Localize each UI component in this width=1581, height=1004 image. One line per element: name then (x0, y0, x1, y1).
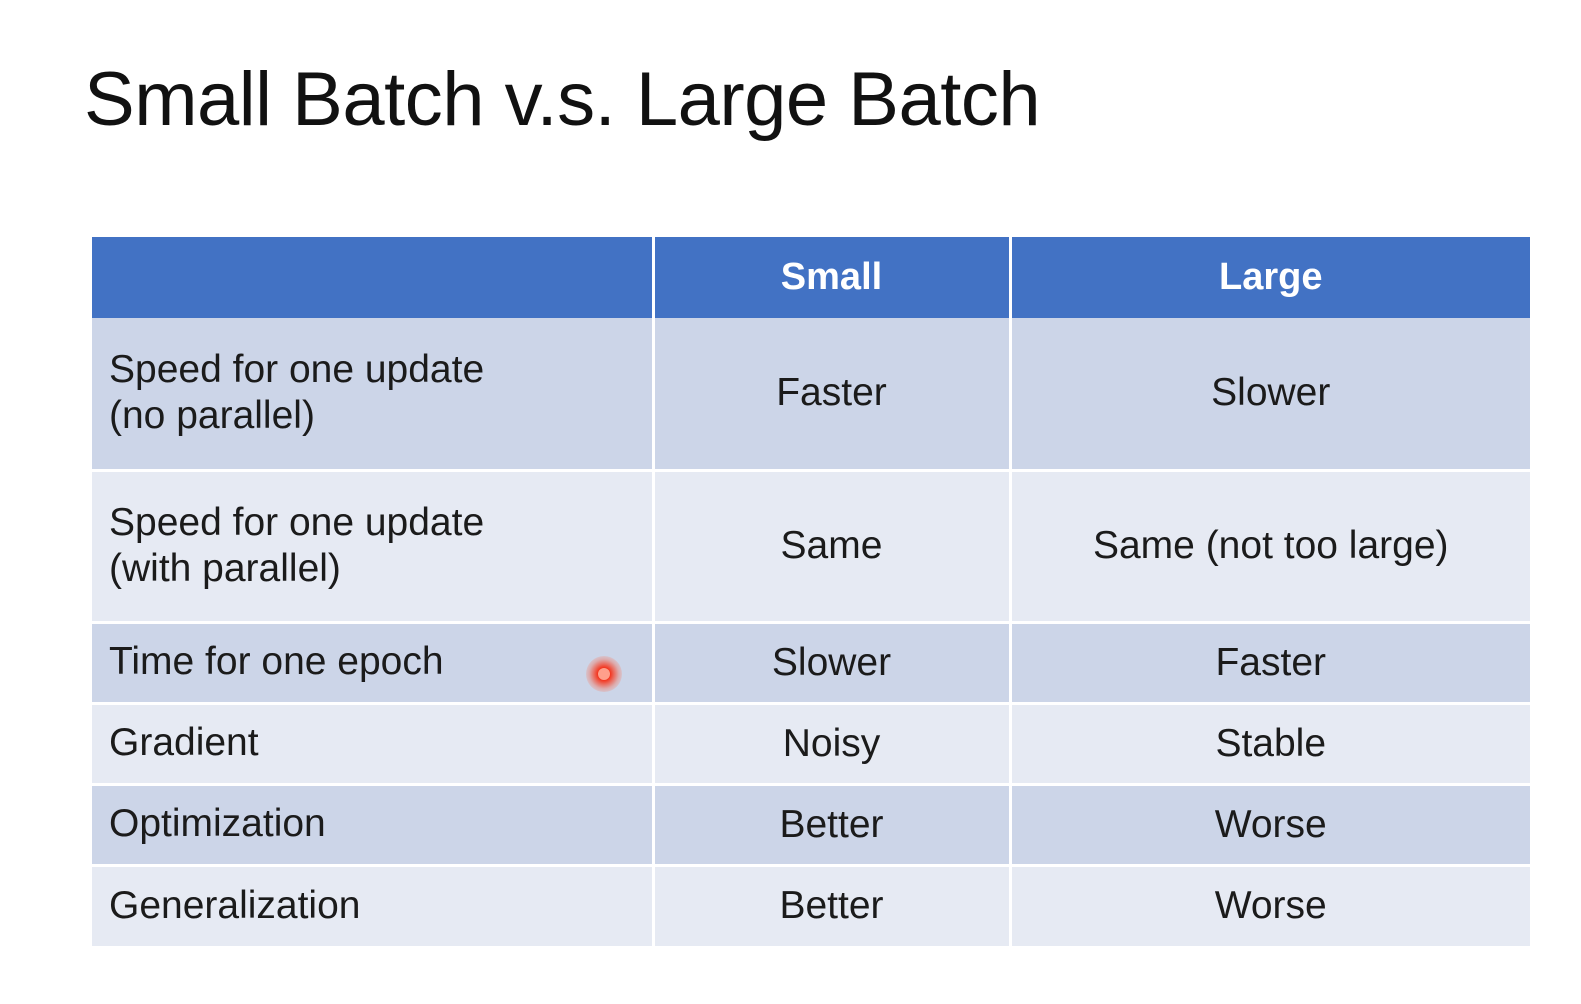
attribute-line-1: Speed for one update (109, 347, 652, 393)
cell-small-gradient: Noisy (653, 703, 1010, 784)
row-attribute-generalization: Generalization (92, 865, 653, 946)
column-header-large: Large (1010, 237, 1530, 318)
table-row: Optimization Better Worse (92, 784, 1530, 865)
comparison-table: Small Large Speed for one update (no par… (92, 237, 1530, 946)
row-attribute-gradient: Gradient (92, 703, 653, 784)
cell-large-gradient: Stable (1010, 703, 1530, 784)
cell-large-time-one-epoch: Faster (1010, 622, 1530, 703)
column-header-small: Small (653, 237, 1010, 318)
attribute-line-1: Time for one epoch (109, 639, 652, 685)
presentation-slide: Small Batch v.s. Large Batch Small Large… (0, 0, 1581, 1004)
page-title: Small Batch v.s. Large Batch (84, 62, 1040, 138)
cell-small-generalization: Better (653, 865, 1010, 946)
table-header-row: Small Large (92, 237, 1530, 318)
cell-small-time-one-epoch: Slower (653, 622, 1010, 703)
row-attribute-optimization: Optimization (92, 784, 653, 865)
table-row: Time for one epoch Slower Faster (92, 622, 1530, 703)
table-header: Small Large (92, 237, 1530, 318)
row-attribute-speed-no-parallel: Speed for one update (no parallel) (92, 318, 653, 470)
column-header-attribute (92, 237, 653, 318)
cell-large-speed-with-parallel: Same (not too large) (1010, 470, 1530, 622)
attribute-line-1: Optimization (109, 801, 652, 847)
cell-small-optimization: Better (653, 784, 1010, 865)
attribute-line-1: Gradient (109, 720, 652, 766)
table-row: Generalization Better Worse (92, 865, 1530, 946)
attribute-line-2: (with parallel) (109, 546, 652, 592)
attribute-line-1: Speed for one update (109, 500, 652, 546)
cell-large-speed-no-parallel: Slower (1010, 318, 1530, 470)
attribute-line-1: Generalization (109, 883, 652, 929)
cell-large-optimization: Worse (1010, 784, 1530, 865)
row-attribute-speed-with-parallel: Speed for one update (with parallel) (92, 470, 653, 622)
cell-small-speed-no-parallel: Faster (653, 318, 1010, 470)
cell-small-speed-with-parallel: Same (653, 470, 1010, 622)
table-row: Gradient Noisy Stable (92, 703, 1530, 784)
cell-large-generalization: Worse (1010, 865, 1530, 946)
attribute-line-2: (no parallel) (109, 393, 652, 439)
table-row: Speed for one update (with parallel) Sam… (92, 470, 1530, 622)
table-body: Speed for one update (no parallel) Faste… (92, 318, 1530, 946)
table-row: Speed for one update (no parallel) Faste… (92, 318, 1530, 470)
row-attribute-time-one-epoch: Time for one epoch (92, 622, 653, 703)
